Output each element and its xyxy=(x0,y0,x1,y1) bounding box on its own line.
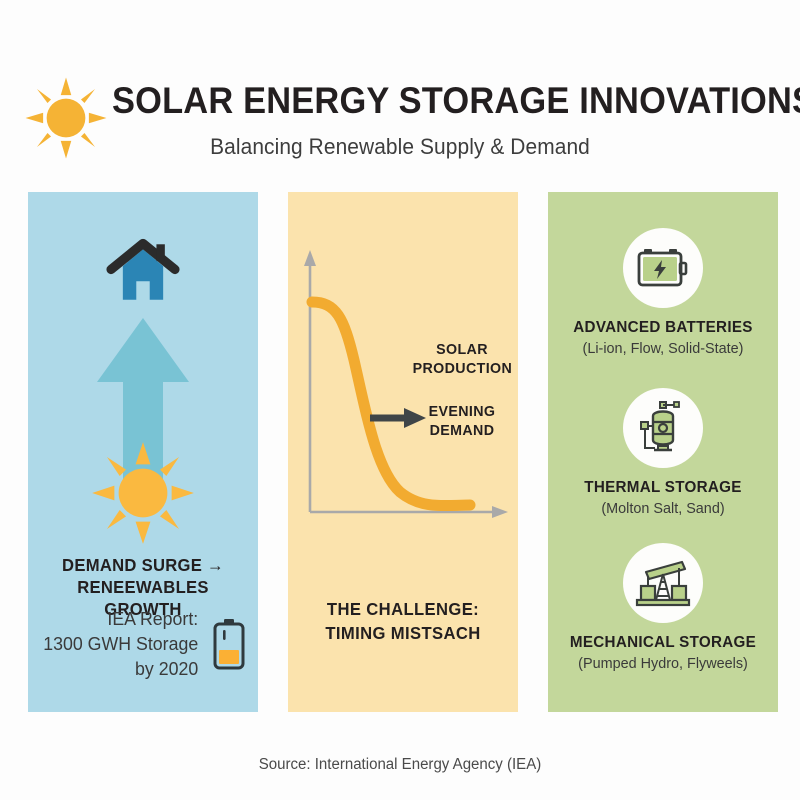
demand-stat-line2: 1300 GWH Storage xyxy=(43,631,198,656)
storage-item-title: MECHANICAL STORAGE xyxy=(554,634,773,652)
storage-item-subtitle: (Li-ion, Flow, Solid-State) xyxy=(553,340,774,357)
demand-stat-line1: IEA Report: xyxy=(43,606,198,631)
chart-label-solar-production: SOLAR PRODUCTION xyxy=(413,340,512,378)
panel-challenge: SOLAR PRODUCTION EVENING DEMAND THE CHAL… xyxy=(288,192,518,712)
car-battery-icon xyxy=(635,245,691,291)
house-icon xyxy=(101,232,185,312)
storage-item-mechanical-storage[interactable]: MECHANICAL STORAGE (Pumped Hydro, Flywee… xyxy=(548,543,778,672)
pressure-tank-icon xyxy=(637,400,689,456)
battery-icon xyxy=(212,618,246,670)
chart-label-evening-demand: EVENING DEMAND xyxy=(413,402,512,440)
challenge-headline: THE CHALLENGE: TIMING MISTSACH xyxy=(303,597,503,645)
page-subtitle: Balancing Renewable Supply & Demand xyxy=(20,134,780,160)
storage-item-subtitle: (Pumped Hydro, Flyweels) xyxy=(553,655,774,672)
pump-jack-icon xyxy=(634,558,692,608)
demand-headline-line1: DEMAND SURGE → xyxy=(41,554,244,576)
chart-x-axis-arrowhead xyxy=(492,506,508,518)
storage-item-advanced-batteries[interactable]: ADVANCED BATTERIES (Li-ion, Flow, Solid-… xyxy=(548,228,778,357)
icon-badge xyxy=(623,543,703,623)
solar-production-chart xyxy=(288,240,518,540)
demand-stat-line3: by 2020 xyxy=(43,656,198,681)
storage-item-subtitle: (Molton Salt, Sand) xyxy=(553,500,774,517)
icon-badge xyxy=(623,228,703,308)
storage-item-title: ADVANCED BATTERIES xyxy=(554,319,773,337)
panel-demand: DEMAND SURGE → RENEEWABLES GROWTH IEA Re… xyxy=(28,192,258,712)
challenge-headline-line1: THE CHALLENGE: xyxy=(303,597,503,621)
header: SOLAR ENERGY STORAGE INNOVATIONS Balanci… xyxy=(0,36,800,146)
infographic-canvas: SOLAR ENERGY STORAGE INNOVATIONS Balanci… xyxy=(0,0,800,800)
storage-item-title: THERMAL STORAGE xyxy=(554,479,773,497)
demand-stat: IEA Report: 1300 GWH Storage by 2020 xyxy=(38,606,248,681)
page-title: SOLAR ENERGY STORAGE INNOVATIONS xyxy=(112,80,800,122)
sun-icon xyxy=(90,440,196,546)
chart-label-evening-line1: EVENING xyxy=(413,402,512,421)
source-note: Source: International Energy Agency (IEA… xyxy=(12,756,788,774)
storage-item-thermal-storage[interactable]: THERMAL STORAGE (Molton Salt, Sand) xyxy=(548,388,778,517)
panel-solutions: ADVANCED BATTERIES (Li-ion, Flow, Solid-… xyxy=(548,192,778,712)
demand-stat-text: IEA Report: 1300 GWH Storage by 2020 xyxy=(43,606,198,681)
chart-y-axis-arrowhead xyxy=(304,250,316,266)
chart-label-solar-line2: PRODUCTION xyxy=(413,359,512,378)
chart-label-solar-line1: SOLAR xyxy=(413,340,512,359)
chart-label-evening-line2: DEMAND xyxy=(413,421,512,440)
icon-badge xyxy=(623,388,703,468)
challenge-headline-line2: TIMING MISTSACH xyxy=(303,621,503,645)
